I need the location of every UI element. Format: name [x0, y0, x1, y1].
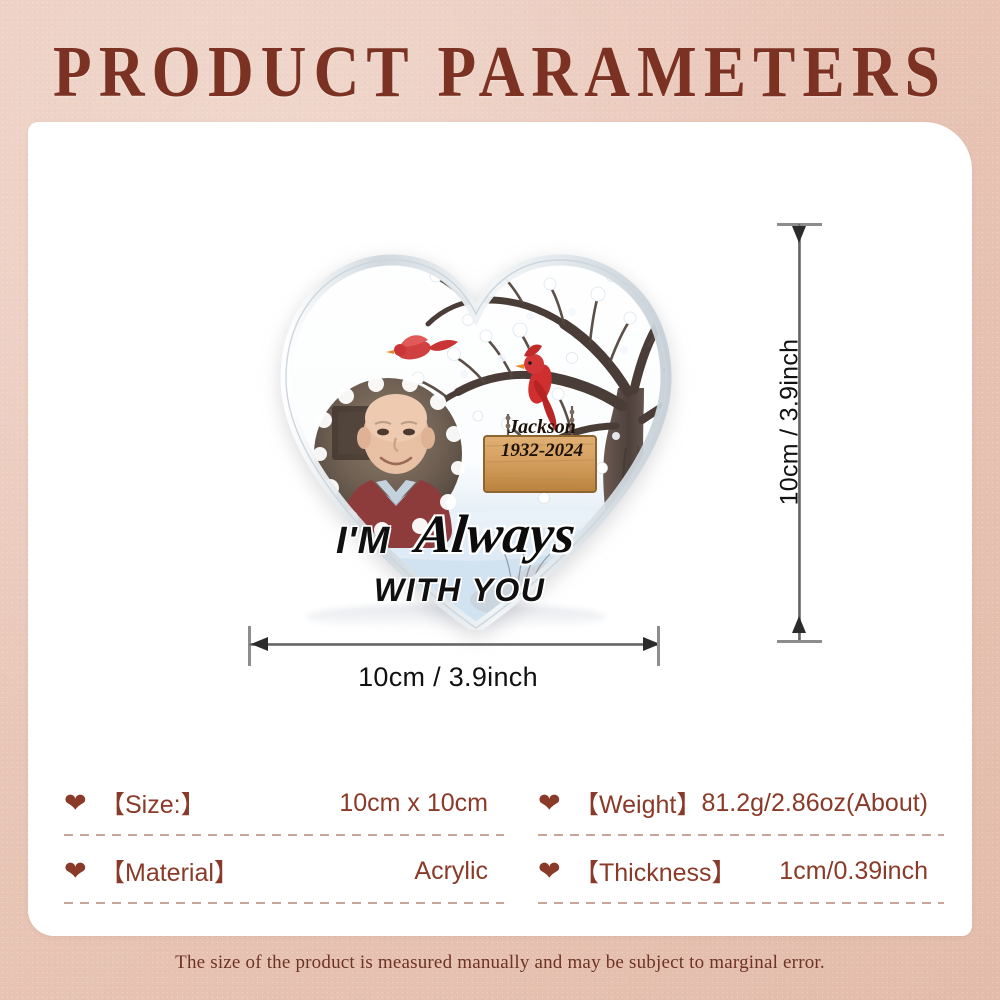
heart-icon: ❤: [538, 791, 564, 815]
spec-item-thickness: ❤ 【Thickness】 1cm/0.39inch: [504, 844, 944, 912]
spec-label: 【Material】: [100, 853, 239, 889]
heart-icon: ❤: [538, 859, 564, 883]
spec-label: 【Thickness】: [574, 853, 737, 889]
horizontal-dimension-line: [243, 626, 663, 666]
spec-item-weight: ❤ 【Weight】 81.2g/2.86oz(About): [504, 776, 944, 844]
product-image: Jackson 1932-2024 I'M Always WITH YOU: [228, 212, 728, 652]
spec-row: ❤ 【Size:】 10cm x 10cm ❤ 【Weight】 81.2g/2…: [64, 776, 944, 844]
heart-icon: ❤: [64, 859, 90, 883]
divider: [538, 834, 944, 836]
divider: [64, 834, 504, 836]
heart-icon: ❤: [64, 791, 90, 815]
arrow-up-icon: [792, 616, 806, 633]
spec-item-material: ❤ 【Material】 Acrylic: [64, 844, 504, 912]
dimension-tick-right: [657, 626, 660, 666]
dimension-tick-bottom: [777, 640, 822, 643]
horizontal-dimension-label: 10cm / 3.9inch: [28, 662, 868, 693]
spec-value: 1cm/0.39inch: [737, 857, 932, 886]
spec-label: 【Size:】: [100, 785, 206, 821]
divider: [538, 902, 944, 904]
specifications-table: ❤ 【Size:】 10cm x 10cm ❤ 【Weight】 81.2g/2…: [64, 776, 944, 912]
spec-value: Acrylic: [239, 857, 492, 886]
arrow-left-icon: [251, 637, 268, 651]
vertical-dimension-label: 10cm / 3.9inch: [776, 339, 805, 506]
footer-disclaimer: The size of the product is measured manu…: [0, 952, 1000, 974]
spec-row: ❤ 【Material】 Acrylic ❤ 【Thickness】 1cm/0…: [64, 844, 944, 912]
heart-shape-graphic: [272, 230, 680, 630]
page-title: PRODUCT PARAMETERS: [0, 36, 1000, 109]
product-parameters-infographic: PRODUCT PARAMETERS: [0, 0, 1000, 1000]
spec-label: 【Weight】: [574, 785, 701, 821]
divider: [64, 902, 504, 904]
spec-item-size: ❤ 【Size:】 10cm x 10cm: [64, 776, 504, 844]
spec-value: 10cm x 10cm: [206, 789, 492, 818]
content-card: Jackson 1932-2024 I'M Always WITH YOU 10…: [28, 122, 972, 936]
acrylic-heart-plaque: Jackson 1932-2024 I'M Always WITH YOU: [266, 220, 686, 640]
dimension-line: [249, 643, 659, 646]
spec-value: 81.2g/2.86oz(About): [701, 789, 932, 818]
arrow-down-icon: [792, 226, 806, 243]
